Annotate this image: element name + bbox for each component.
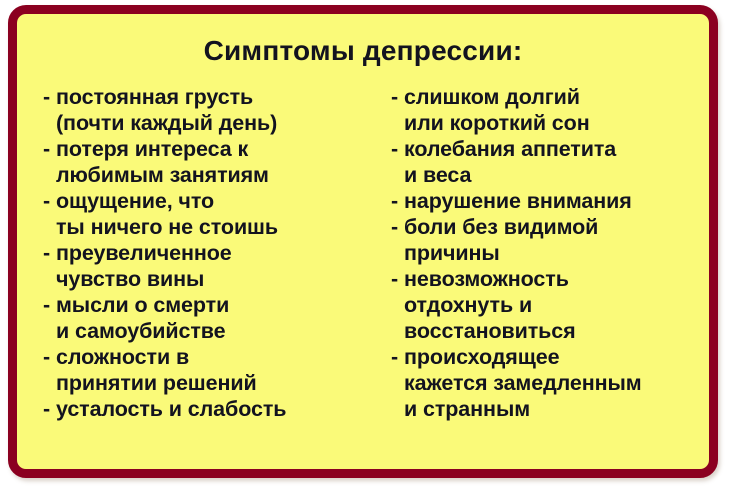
symptom-line: -постоянная грусть — [43, 84, 379, 110]
symptom-text: ощущение, что — [56, 189, 214, 213]
symptom-line-continuation: причины — [391, 240, 709, 266]
symptom-line-continuation: чувство вины — [43, 266, 379, 292]
list-item: -преувеличенноечувство вины — [43, 240, 379, 292]
list-item: -нарушение внимания — [391, 188, 709, 214]
symptom-line: -сложности в — [43, 344, 379, 370]
symptom-text: боли без видимой — [404, 215, 598, 239]
page-title: Симптомы депрессии: — [17, 14, 709, 66]
list-item: -боли без видимойпричины — [391, 214, 709, 266]
bullet-dash-icon: - — [43, 84, 56, 110]
symptom-line: -усталость и слабость — [43, 396, 379, 422]
symptom-text: потеря интереса к — [56, 137, 248, 161]
list-item: -потеря интереса клюбимым занятиям — [43, 136, 379, 188]
list-item: -ощущение, чтоты ничего не стоишь — [43, 188, 379, 240]
list-item: -происходящеекажется замедленными странн… — [391, 344, 709, 422]
symptoms-list-left: -постоянная грусть(почти каждый день)-по… — [17, 84, 379, 422]
bullet-dash-icon: - — [391, 136, 404, 162]
symptoms-list-right: -слишком долгийили короткий сон-колебани… — [379, 84, 709, 422]
symptom-text: слишком долгий — [404, 85, 580, 109]
symptoms-poster-card: Симптомы депрессии: -постоянная грусть(п… — [8, 5, 718, 478]
symptom-text: постоянная грусть — [56, 85, 253, 109]
list-item: -слишком долгийили короткий сон — [391, 84, 709, 136]
bullet-dash-icon: - — [391, 266, 404, 292]
symptom-text: происходящее — [404, 345, 559, 369]
bullet-dash-icon: - — [391, 344, 404, 370]
symptom-text: сложности в — [56, 345, 189, 369]
bullet-dash-icon: - — [43, 396, 56, 422]
symptom-text: нарушение внимания — [404, 189, 632, 213]
bullet-dash-icon: - — [43, 136, 56, 162]
symptom-text: мысли о смерти — [56, 293, 229, 317]
bullet-dash-icon: - — [391, 214, 404, 240]
symptom-text: преувеличенное — [56, 241, 232, 265]
symptom-line-continuation: принятии решений — [43, 370, 379, 396]
symptom-line: -нарушение внимания — [391, 188, 709, 214]
symptom-line-continuation: отдохнуть и — [391, 292, 709, 318]
bullet-dash-icon: - — [43, 240, 56, 266]
symptom-line-continuation: и самоубийстве — [43, 318, 379, 344]
symptom-line: -колебания аппетита — [391, 136, 709, 162]
symptoms-columns: -постоянная грусть(почти каждый день)-по… — [17, 66, 709, 422]
symptom-text: невозможность — [404, 267, 569, 291]
symptom-line-continuation: или короткий сон — [391, 110, 709, 136]
poster-content: Симптомы депрессии: -постоянная грусть(п… — [17, 14, 709, 469]
bullet-dash-icon: - — [391, 188, 404, 214]
bullet-dash-icon: - — [43, 188, 56, 214]
symptom-text: колебания аппетита — [404, 137, 616, 161]
symptom-text: усталость и слабость — [56, 397, 286, 421]
symptom-line: -боли без видимой — [391, 214, 709, 240]
symptom-line: -происходящее — [391, 344, 709, 370]
symptom-line: -ощущение, что — [43, 188, 379, 214]
symptom-line: -потеря интереса к — [43, 136, 379, 162]
symptom-line: -невозможность — [391, 266, 709, 292]
list-item: -колебания аппетитаи веса — [391, 136, 709, 188]
list-item: -мысли о смертии самоубийстве — [43, 292, 379, 344]
symptom-line-continuation: ты ничего не стоишь — [43, 214, 379, 240]
bullet-dash-icon: - — [391, 84, 404, 110]
list-item: -усталость и слабость — [43, 396, 379, 422]
symptom-line-continuation: кажется замедленным — [391, 370, 709, 396]
symptom-line-continuation: и веса — [391, 162, 709, 188]
symptom-line: -слишком долгий — [391, 84, 709, 110]
symptom-line-continuation: восстановиться — [391, 318, 709, 344]
bullet-dash-icon: - — [43, 344, 56, 370]
bullet-dash-icon: - — [43, 292, 56, 318]
symptom-line-continuation: любимым занятиям — [43, 162, 379, 188]
symptom-line: -преувеличенное — [43, 240, 379, 266]
list-item: -постоянная грусть(почти каждый день) — [43, 84, 379, 136]
list-item: -невозможностьотдохнуть ивосстановиться — [391, 266, 709, 344]
symptom-line-continuation: (почти каждый день) — [43, 110, 379, 136]
symptom-line-continuation: и странным — [391, 396, 709, 422]
list-item: -сложности впринятии решений — [43, 344, 379, 396]
symptom-line: -мысли о смерти — [43, 292, 379, 318]
